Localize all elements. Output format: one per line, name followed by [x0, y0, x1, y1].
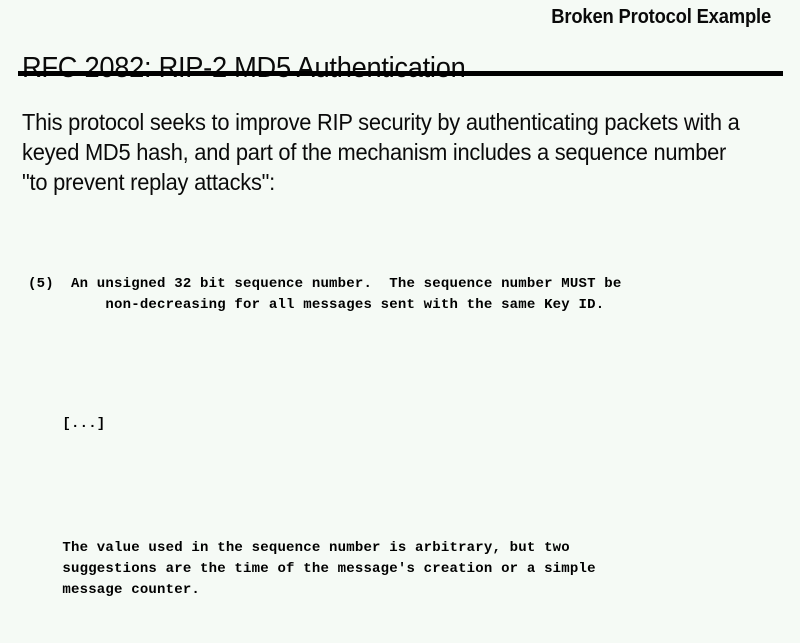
- quote-spacer-2: [28, 477, 622, 496]
- quote-value-note: The value used in the sequence number is…: [28, 538, 622, 601]
- body-paragraph: This protocol seeks to improve RIP secur…: [22, 107, 740, 197]
- slide-canvas: Broken Protocol Example RFC 2082: RIP-2 …: [0, 0, 800, 600]
- quote-spacer-1: [28, 358, 622, 372]
- running-head: Broken Protocol Example: [62, 6, 771, 29]
- quote-item-5: (5) An unsigned 32 bit sequence number. …: [28, 274, 622, 316]
- title-divider: [18, 71, 783, 76]
- page-title: RFC 2082: RIP-2 MD5 Authentication: [22, 52, 465, 84]
- quote-ellipsis: [...]: [28, 414, 622, 435]
- rfc-quote-block: (5) An unsigned 32 bit sequence number. …: [28, 232, 622, 643]
